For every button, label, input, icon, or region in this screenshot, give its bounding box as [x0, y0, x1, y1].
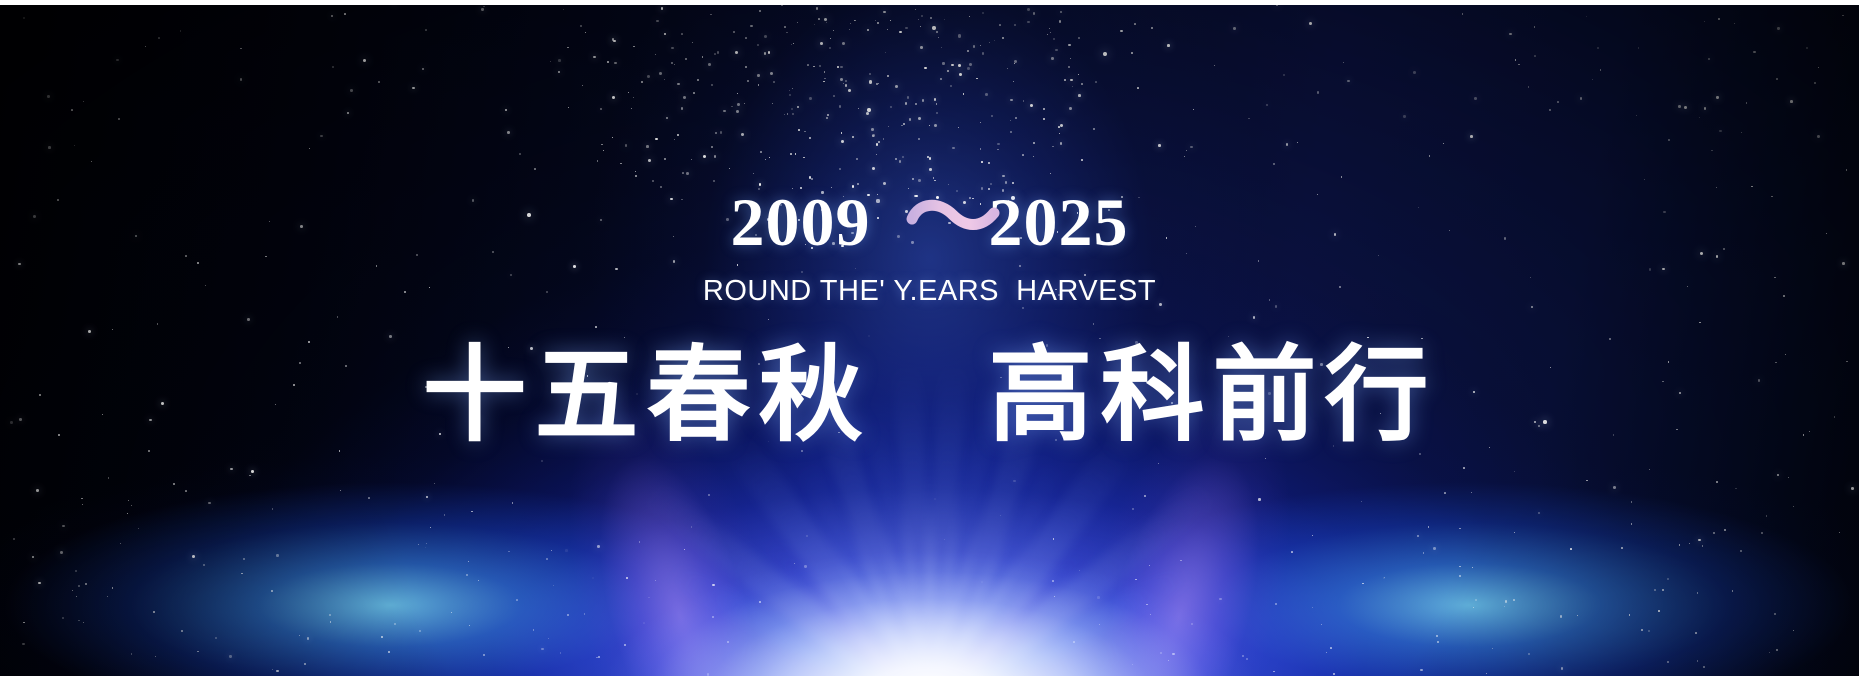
- year-start-label: 2009: [731, 188, 871, 256]
- top-edge-strip: [0, 0, 1859, 5]
- anniversary-banner: 2009 2025 ROUND THE' Y.EARS HA: [0, 0, 1859, 680]
- anniversary-subtitle: ROUND THE' Y.EARS HARVEST: [703, 275, 1156, 308]
- year-end-label: 2025: [989, 188, 1129, 256]
- anniversary-year-range: 2009 2025: [731, 188, 1129, 256]
- banner-content: 2009 2025 ROUND THE' Y.EARS HA: [0, 0, 1859, 680]
- tilde-separator-icon: [909, 195, 1001, 249]
- headline-slogan: 十五春秋 高科前行: [422, 341, 1436, 450]
- bottom-edge-strip: [0, 676, 1859, 680]
- headline-phrase-right: 高科前行: [989, 341, 1437, 450]
- headline-phrase-left: 十五春秋: [422, 341, 870, 450]
